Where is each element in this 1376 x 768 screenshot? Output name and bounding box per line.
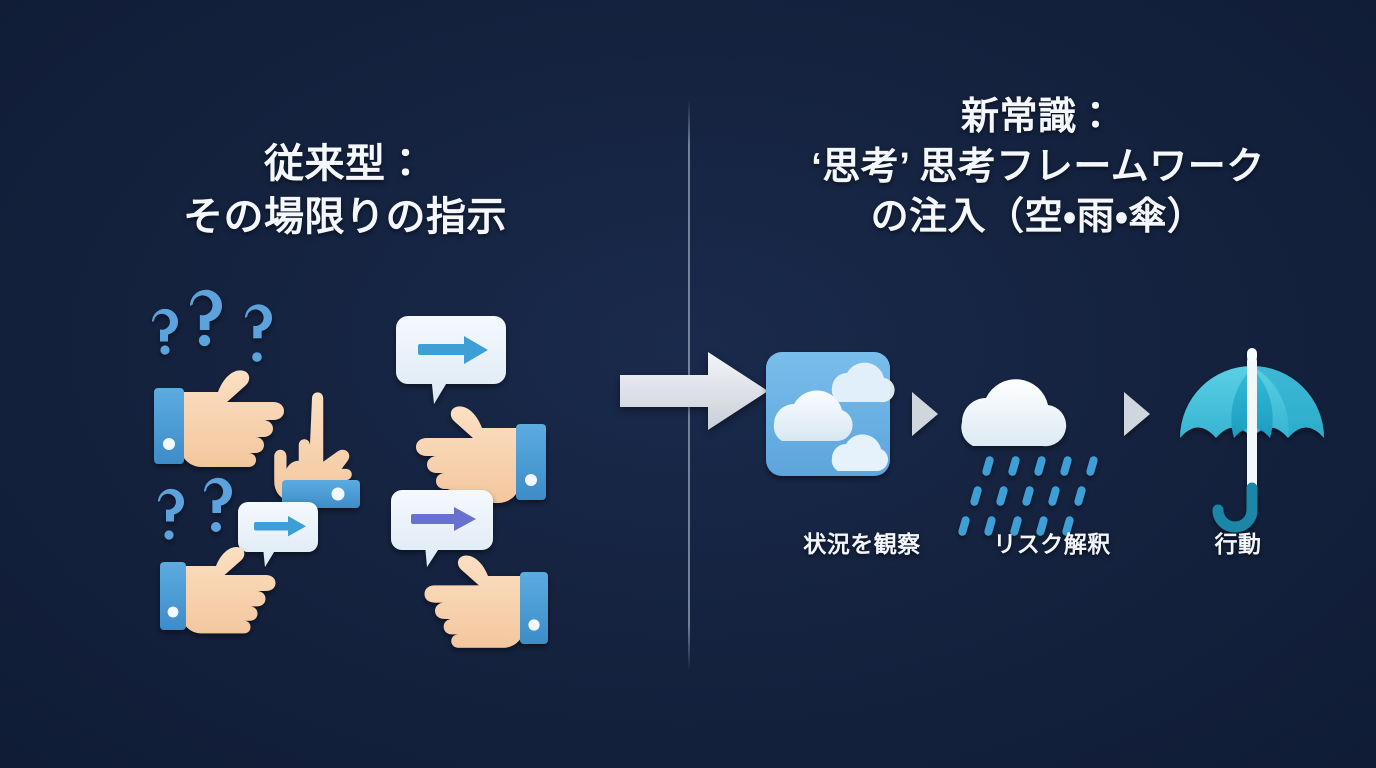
speech-bubble-arrow-icon — [396, 316, 506, 404]
slide-canvas: 従来型： その場限りの指示 新常識： ‘思考’ 思考フレームワーク の注入（空・… — [0, 0, 1376, 768]
pointing-hand-icon — [160, 547, 276, 633]
step-arrow-icon — [912, 392, 938, 436]
question-mark-icon — [152, 290, 272, 362]
legacy-instructions-illustration — [120, 280, 590, 640]
right-panel-title: 新常識： ‘思考’ 思考フレームワーク の注入（空・雨・傘） — [700, 92, 1376, 242]
question-mark-icon — [158, 478, 232, 540]
left-panel-title: 従来型： その場限りの指示 — [60, 138, 630, 244]
sky-clouds-icon — [766, 352, 895, 476]
step-label-observe: 状況を観察 — [772, 525, 952, 559]
speech-bubble-arrow-icon — [238, 502, 318, 567]
pointing-up-hand-icon — [274, 392, 360, 508]
pointing-hand-left-icon — [425, 556, 549, 648]
rain-cloud-icon — [957, 379, 1098, 537]
step-label-act: 行動 — [1148, 525, 1328, 559]
pointing-hand-left-icon — [416, 406, 546, 503]
step-arrow-icon — [1124, 392, 1150, 436]
step-label-interpret: リスク解釈 — [962, 525, 1142, 559]
umbrella-icon — [1180, 348, 1324, 527]
speech-bubble-arrow-purple-icon — [391, 490, 493, 567]
pointing-hand-icon — [154, 370, 284, 467]
